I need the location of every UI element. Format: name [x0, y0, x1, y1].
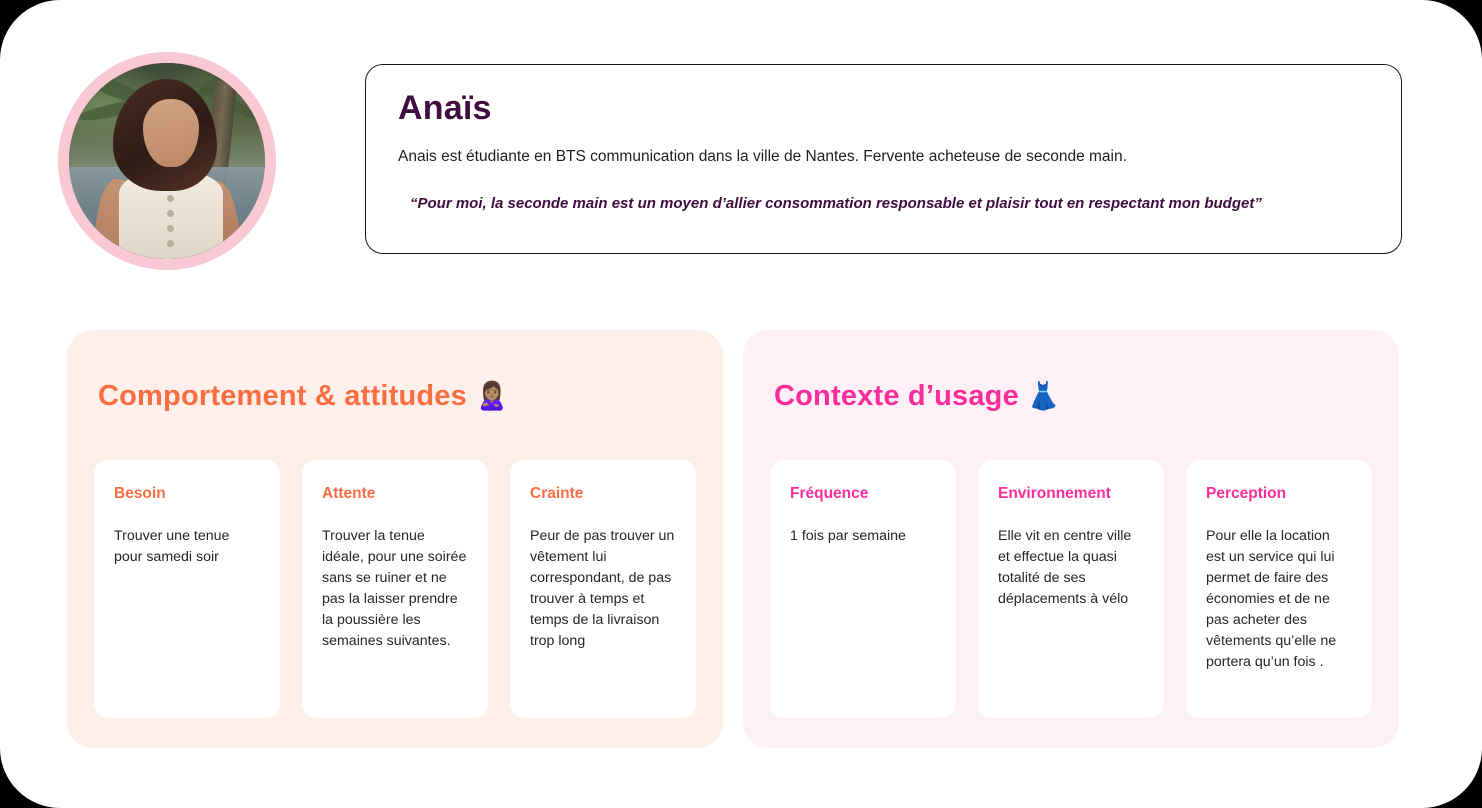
persona-intro-card: Anaïs Anais est étudiante en BTS communi…: [365, 64, 1402, 254]
card-frequence-body: 1 fois par semaine: [790, 526, 936, 547]
card-environnement-body: Elle vit en centre ville et effectue la …: [998, 526, 1144, 610]
card-environnement: Environnement Elle vit en centre ville e…: [978, 460, 1164, 718]
card-frequence-title: Fréquence: [790, 486, 936, 502]
card-attente: Attente Trouver la tenue idéale, pour un…: [302, 460, 488, 718]
card-crainte-body: Peur de pas trouver un vêtement lui corr…: [530, 526, 676, 652]
panel-contexte-usage: Contexte d’usage 👗 Fréquence 1 fois par …: [743, 330, 1399, 748]
context-cards-row: Fréquence 1 fois par semaine Environneme…: [770, 460, 1372, 718]
card-perception-body: Pour elle la location est un service qui…: [1206, 526, 1352, 673]
card-crainte-title: Crainte: [530, 486, 676, 502]
persona-description: Anais est étudiante en BTS communication…: [398, 147, 1369, 168]
panel-title-context: Contexte d’usage 👗: [774, 382, 1061, 411]
card-environnement-title: Environnement: [998, 486, 1144, 502]
person-top-buttons: [167, 195, 175, 247]
card-besoin-body: Trouver une tenue pour samedi soir: [114, 526, 260, 568]
card-frequence: Fréquence 1 fois par semaine: [770, 460, 956, 718]
panel-title-context-label: Contexte d’usage: [774, 382, 1019, 411]
card-besoin-title: Besoin: [114, 486, 260, 502]
card-perception: Perception Pour elle la location est un …: [1186, 460, 1372, 718]
behaviour-cards-row: Besoin Trouver une tenue pour samedi soi…: [94, 460, 696, 718]
avatar: [58, 52, 276, 270]
person-face: [143, 99, 199, 167]
persona-panels: Comportement & attitudes 🙎🏽‍♀️ Besoin Tr…: [0, 330, 1482, 750]
woman-pouting-emoji: 🙎🏽‍♀️: [475, 383, 509, 410]
persona-header: Anaïs Anais est étudiante en BTS communi…: [0, 0, 1482, 300]
card-attente-body: Trouver la tenue idéale, pour une soirée…: [322, 526, 468, 652]
persona-card-frame: Anaïs Anais est étudiante en BTS communi…: [0, 0, 1482, 808]
avatar-photo: [69, 63, 265, 259]
panel-title-behaviour-label: Comportement & attitudes: [98, 382, 467, 411]
panel-comportement-attitudes: Comportement & attitudes 🙎🏽‍♀️ Besoin Tr…: [67, 330, 723, 748]
dress-emoji: 👗: [1027, 383, 1061, 410]
persona-quote: “Pour moi, la seconde main est un moyen …: [398, 194, 1369, 214]
card-perception-title: Perception: [1206, 486, 1352, 502]
card-crainte: Crainte Peur de pas trouver un vêtement …: [510, 460, 696, 718]
panel-title-behaviour: Comportement & attitudes 🙎🏽‍♀️: [98, 382, 509, 411]
persona-name: Anaïs: [398, 91, 1369, 125]
card-attente-title: Attente: [322, 486, 468, 502]
card-besoin: Besoin Trouver une tenue pour samedi soi…: [94, 460, 280, 718]
